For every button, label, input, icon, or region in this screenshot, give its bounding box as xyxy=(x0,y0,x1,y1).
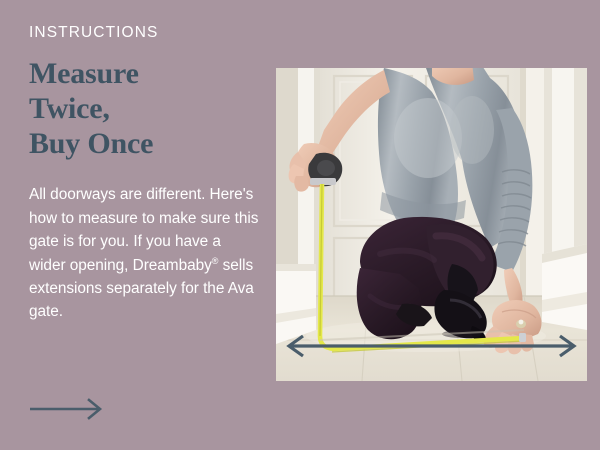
instruction-card: INSTRUCTIONS Measure Twice, Buy Once All… xyxy=(0,0,600,450)
brand-name: Dreambaby xyxy=(133,257,212,274)
page-title: Measure Twice, Buy Once xyxy=(29,56,261,161)
doorway-measuring-illustration xyxy=(276,68,587,381)
eyebrow-label: INSTRUCTIONS xyxy=(29,24,261,41)
next-arrow-button[interactable] xyxy=(29,398,107,420)
arrow-right-icon xyxy=(29,398,107,420)
body-copy: All doorways are different. Here's how t… xyxy=(29,183,261,323)
instruction-photo xyxy=(276,68,587,381)
text-panel: INSTRUCTIONS Measure Twice, Buy Once All… xyxy=(29,24,261,324)
